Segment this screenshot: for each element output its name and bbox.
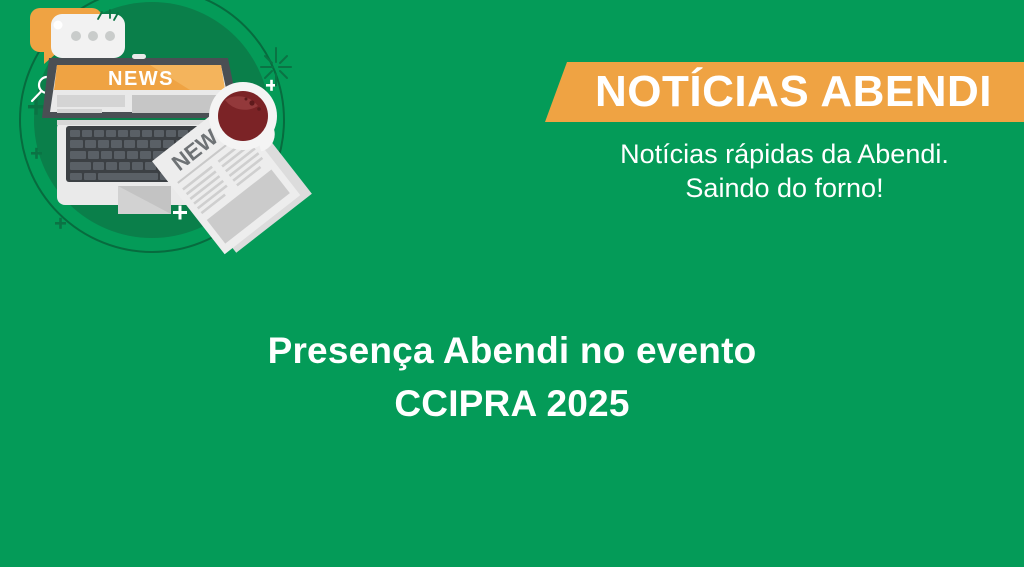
laptop-screen-news-label: NEWS <box>108 68 174 90</box>
subtitle-line-2: Saindo do forno! <box>545 171 1024 205</box>
notices-banner: NOTÍCIAS ABENDI <box>545 62 1024 122</box>
news-card: NEWS <box>0 0 1024 567</box>
page-title: Presença Abendi no evento CCIPRA 2025 <box>0 325 1024 430</box>
banner-title: NOTÍCIAS ABENDI <box>545 62 1024 122</box>
subtitle-line-1: Notícias rápidas da Abendi. <box>545 137 1024 171</box>
banner-subtitle: Notícias rápidas da Abendi. Saindo do fo… <box>545 137 1024 206</box>
headline-line-1: Presença Abendi no evento <box>0 325 1024 378</box>
coffee-cup-icon <box>209 82 277 150</box>
news-laptop-illustration: NEWS <box>0 0 330 262</box>
headline-line-2: CCIPRA 2025 <box>0 378 1024 431</box>
